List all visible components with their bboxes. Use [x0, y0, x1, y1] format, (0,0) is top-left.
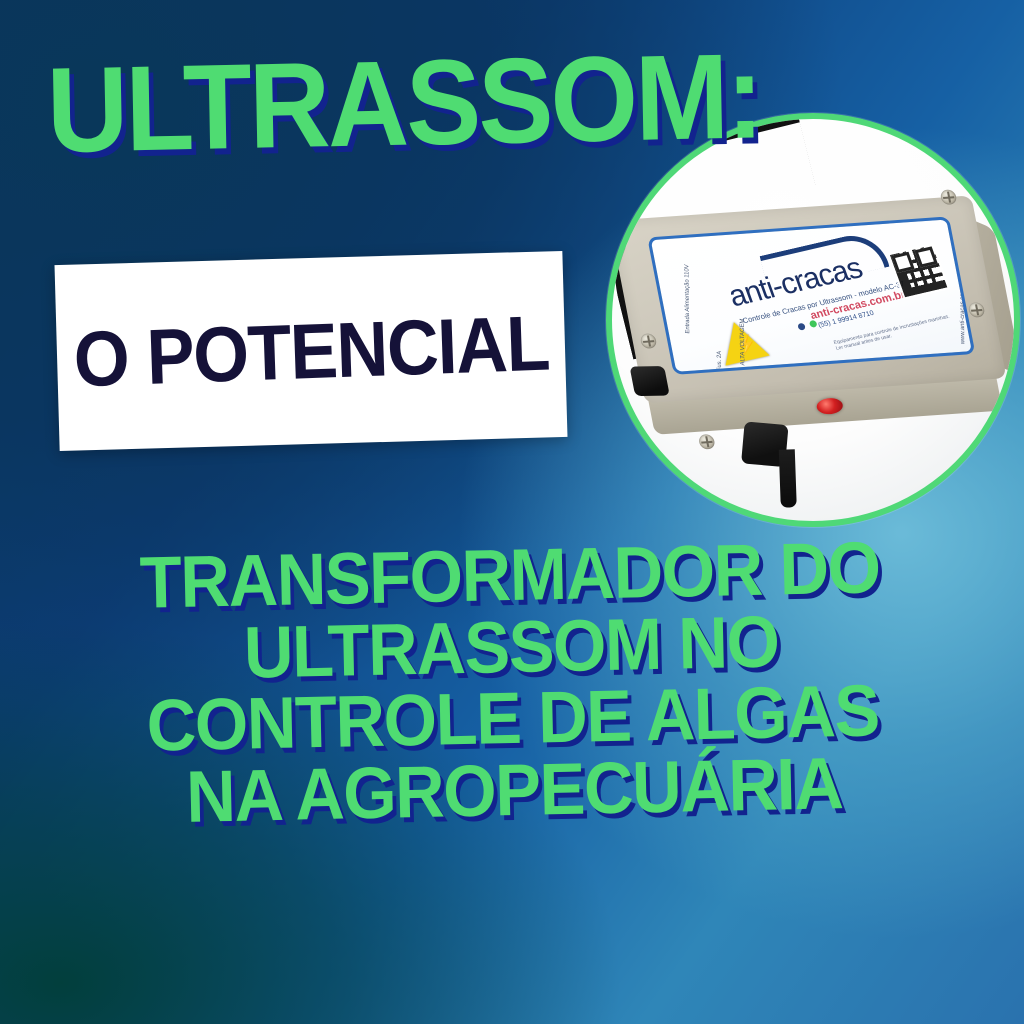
product-photo-inner: anti-cracas Controle de Cracas por Ultra… — [612, 119, 1014, 521]
screw-icon-bottom-left — [698, 434, 716, 450]
power-cable-bottom — [779, 449, 797, 508]
label-side-text-3: ALTA VOLTAGEM — [740, 318, 747, 366]
callout-box: O POTENCIAL — [55, 251, 568, 451]
poster-canvas: anti-cracas Controle de Cracas por Ultra… — [0, 0, 1024, 1024]
label-side-text-2: Fus. 2A — [717, 351, 723, 372]
label-side-text-1: Entrada Alimentação 110V — [684, 264, 691, 334]
ultrasound-transformer-device: anti-cracas Controle de Cracas por Ultra… — [614, 172, 1020, 488]
subheadline: TRANSFORMADOR DO ULTRASSOM NO CONTROLE D… — [0, 529, 1024, 837]
product-photo-circle: anti-cracas Controle de Cracas por Ultra… — [606, 113, 1020, 527]
phone-icon — [797, 323, 806, 331]
device-label: anti-cracas Controle de Cracas por Ultra… — [647, 216, 975, 375]
cable-gland-left — [630, 366, 670, 396]
headline: ULTRASSOM: — [46, 37, 762, 168]
callout-text: O POTENCIAL — [72, 304, 550, 399]
